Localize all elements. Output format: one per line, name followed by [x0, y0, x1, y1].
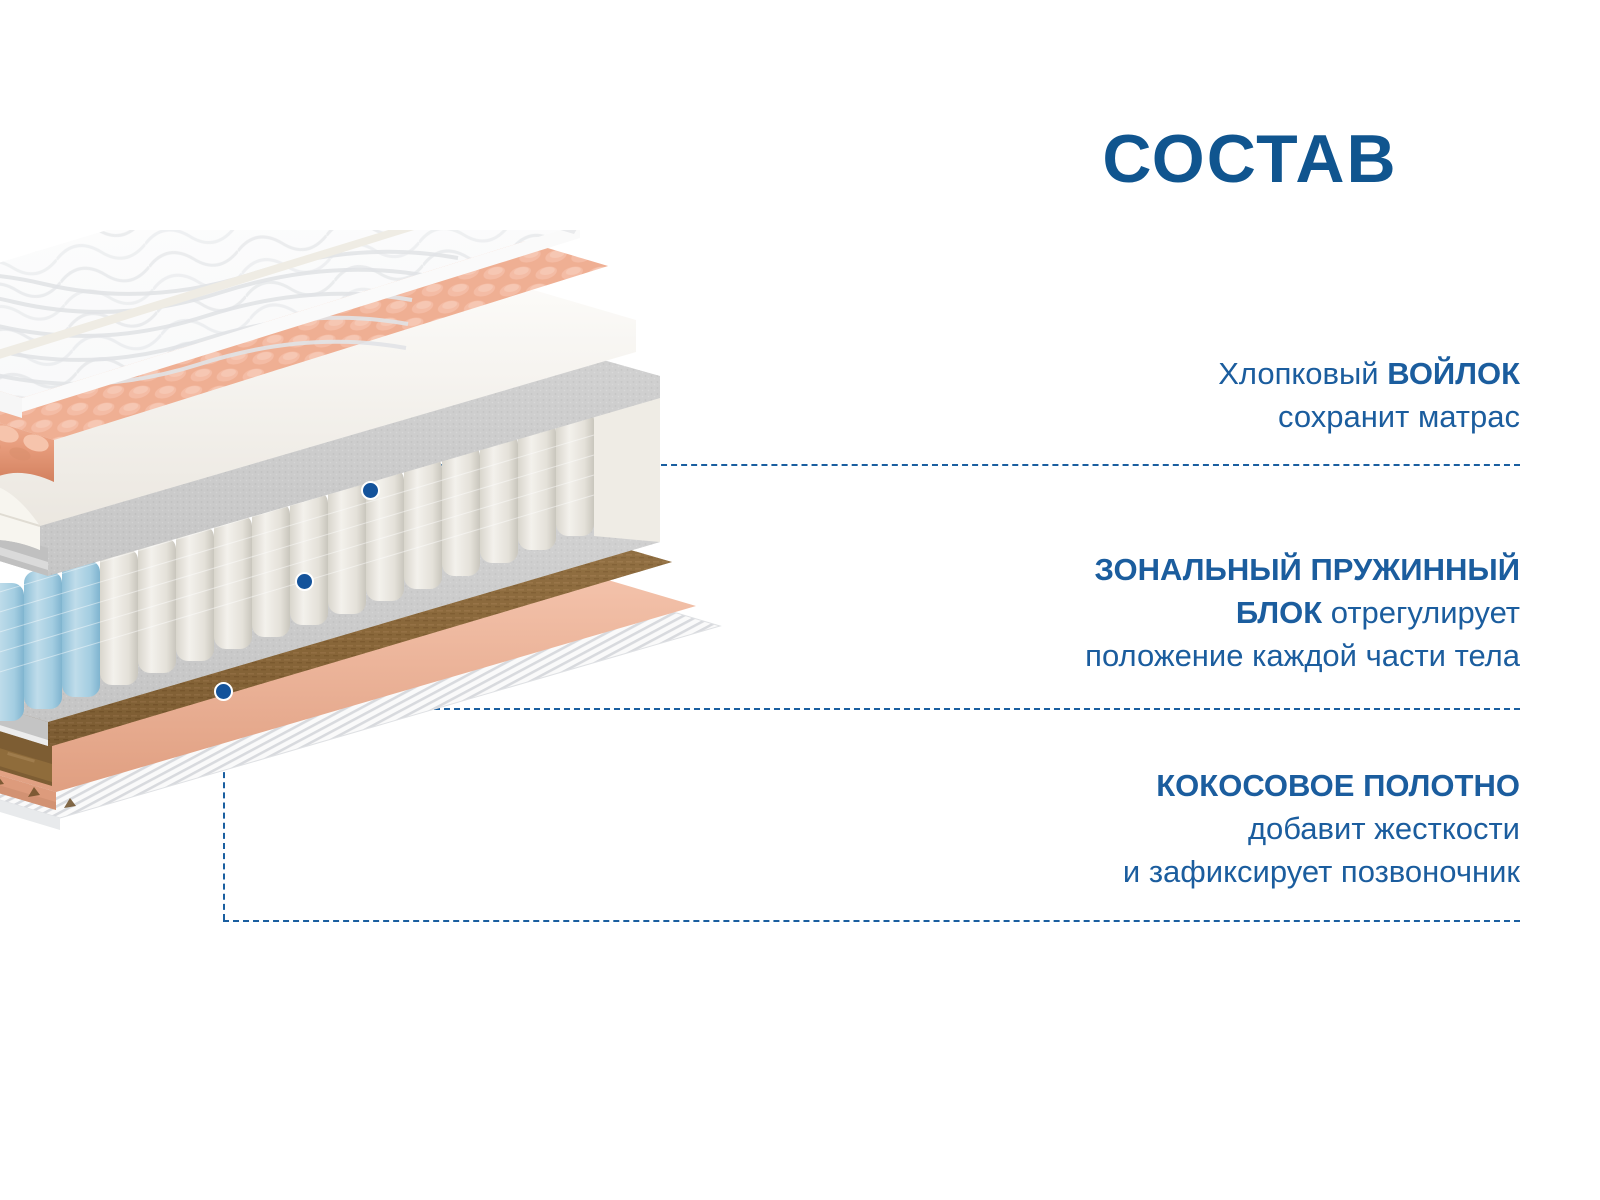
- callout-felt-line2: сохранит матрас: [880, 396, 1520, 439]
- callout-felt-plain: Хлопковый: [1218, 356, 1387, 391]
- callout-felt-keyword: ВОЙЛОК: [1387, 356, 1520, 391]
- leader-dot-springs: [295, 572, 314, 591]
- callout-felt: Хлопковый ВОЙЛОК сохранит матрас: [880, 353, 1520, 439]
- mattress-cutaway-illustration: [0, 230, 820, 810]
- callout-spring-line3: положение каждой части тела: [880, 635, 1520, 678]
- infographic-page: СОСТАВ Хлопковый ВОЙЛОК сохранит матрас …: [0, 0, 1600, 1200]
- callout-coconut-line1: КОКОСОВОЕ ПОЛОТНО: [880, 765, 1520, 808]
- callout-felt-line1: Хлопковый ВОЙЛОК: [880, 353, 1520, 396]
- callout-spring-line2: БЛОК отрегулирует: [880, 592, 1520, 635]
- callout-coconut-line3: и зафиксирует позвоночник: [880, 851, 1520, 894]
- callout-coconut-keyword: КОКОСОВОЕ ПОЛОТНО: [1156, 768, 1520, 803]
- leader-dot-felt: [361, 481, 380, 500]
- page-title: СОСТАВ: [980, 120, 1520, 198]
- leader-dot-coconut: [214, 682, 233, 701]
- callout-coconut: КОКОСОВОЕ ПОЛОТНО добавит жесткости и за…: [880, 765, 1520, 893]
- callout-spring-plain: отрегулирует: [1322, 595, 1520, 630]
- callout-spring-keyword-1: ЗОНАЛЬНЫЙ ПРУЖИННЫЙ: [1095, 552, 1520, 587]
- callout-spring-keyword-2: БЛОК: [1236, 595, 1322, 630]
- leader-horizontal-coconut: [223, 920, 1520, 922]
- callout-spring-line1: ЗОНАЛЬНЫЙ ПРУЖИННЫЙ: [880, 549, 1520, 592]
- callout-spring-block: ЗОНАЛЬНЫЙ ПРУЖИННЫЙ БЛОК отрегулирует по…: [880, 549, 1520, 677]
- callout-coconut-line2: добавит жесткости: [880, 808, 1520, 851]
